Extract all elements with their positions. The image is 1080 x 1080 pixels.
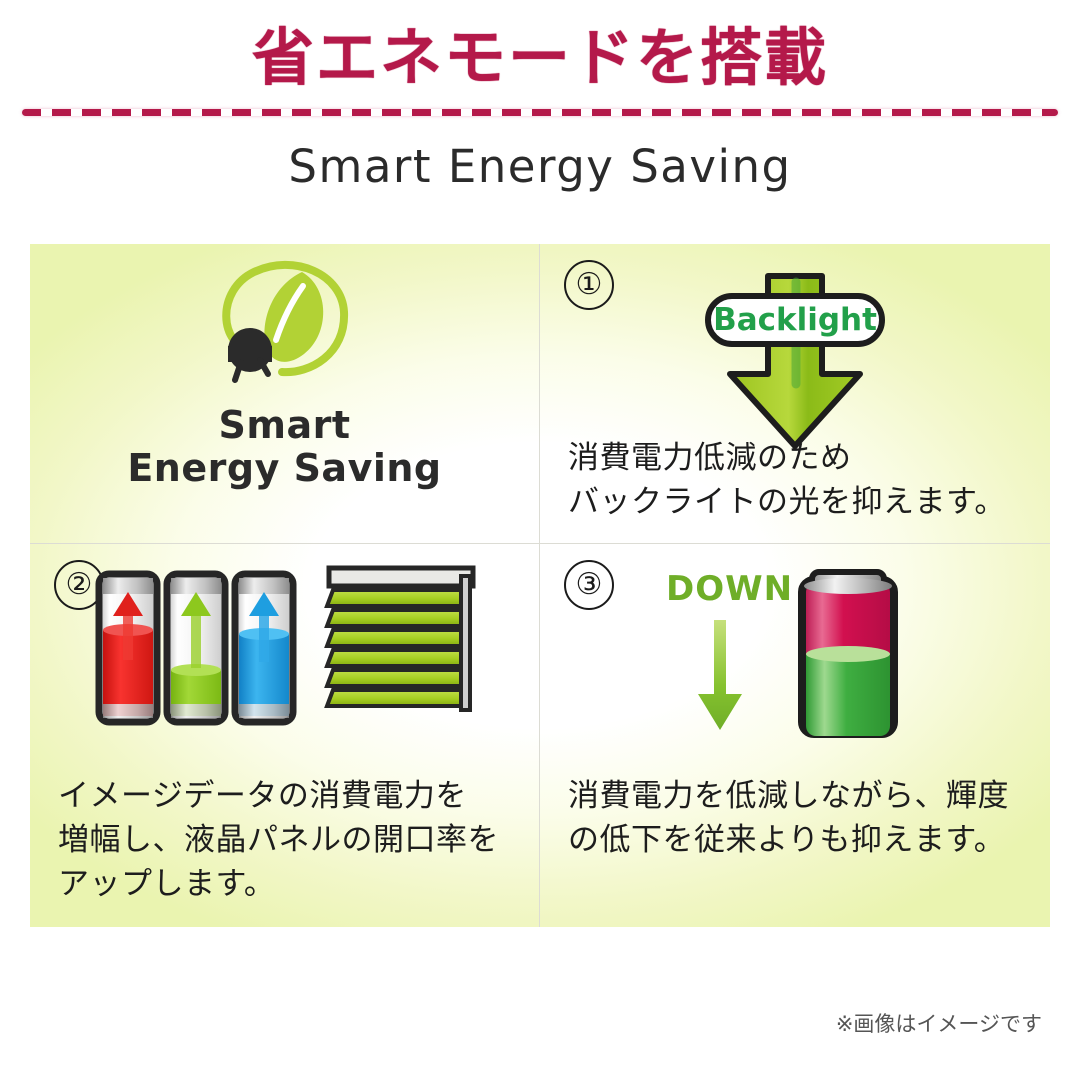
brand-logo-block: Smart Energy Saving	[30, 250, 539, 489]
feature-panel: Smart Energy Saving ①	[30, 244, 1050, 927]
backlight-badge-label: Backlight	[713, 302, 877, 338]
cylinders-blind-art	[30, 558, 539, 738]
panel-caption-3: 消費電力を低減しながら、輝度 の低下を従来よりも抑えます。	[568, 774, 1032, 862]
panel-aperture: ②	[30, 544, 540, 927]
brand-logo-line2: Energy Saving	[127, 447, 441, 490]
leaf-plug-logo-icon	[210, 250, 360, 398]
brand-logo-text: Smart Energy Saving	[127, 404, 441, 489]
panel-caption-1: 消費電力低減のため バックライトの光を抑えます。	[568, 436, 1032, 524]
cylinder-green	[167, 574, 225, 722]
panel-backlight: ①	[540, 244, 1050, 544]
cylinder-blue	[235, 574, 293, 722]
battery-down-icon: DOWN	[650, 558, 940, 748]
image-disclaimer: ※画像はイメージです	[836, 1008, 1042, 1038]
battery-body	[802, 572, 894, 736]
cylinder-red	[99, 574, 157, 722]
panel-caption-2: イメージデータの消費電力を 増幅し、液晶パネルの開口率を アップします。	[58, 774, 521, 906]
page-subtitle: Smart Energy Saving	[0, 140, 1080, 193]
rgb-cylinders-and-blind-icon	[85, 558, 485, 738]
panel-battery: ③	[540, 544, 1050, 927]
feature-grid: Smart Energy Saving ①	[30, 244, 1050, 927]
dashed-divider	[22, 109, 1058, 116]
panel-brand-logo: Smart Energy Saving	[30, 244, 540, 544]
down-label: DOWN	[666, 569, 793, 609]
down-arrow-backlight-icon: Backlight	[690, 266, 900, 456]
battery-down-art: DOWN	[540, 558, 1050, 758]
header: 省エネモードを搭載 Smart Energy Saving	[0, 0, 1080, 193]
window-blind-icon	[327, 568, 473, 710]
brand-logo-line1: Smart	[127, 404, 441, 447]
page-title: 省エネモードを搭載	[0, 22, 1080, 93]
